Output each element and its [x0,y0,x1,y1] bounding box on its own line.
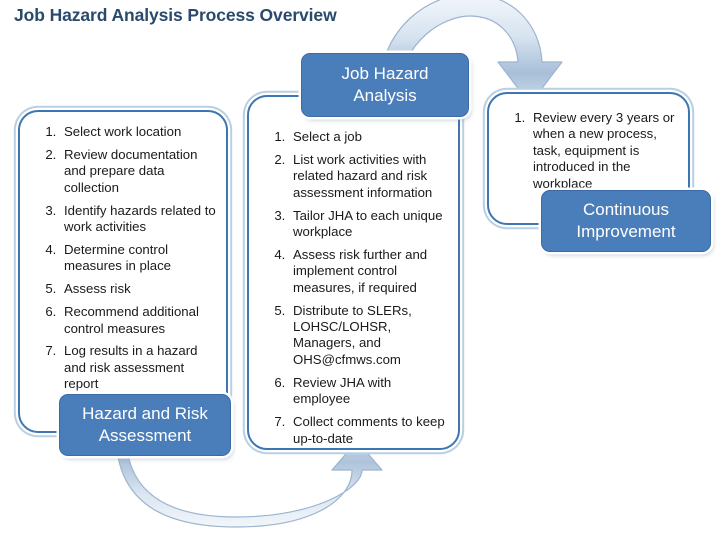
list-item: Log results in a hazard and risk assessm… [60,343,216,392]
step-list-continuous-improvement: Review every 3 years or when a new proce… [503,110,678,192]
list-item: Determine control measures in place [60,242,216,275]
badge-continuous-improvement[interactable]: Continuous Improvement [541,190,711,252]
list-item: Select a job [289,129,448,145]
badge-line-2: Assessment [82,425,208,447]
page-title: Job Hazard Analysis Process Overview [14,5,337,26]
list-item: Identify hazards related to work activit… [60,203,216,236]
list-item: Review JHA with employee [289,375,448,408]
list-item: Collect comments to keep up-to-date [289,414,448,447]
list-item: Recommend additional control measures [60,304,216,337]
badge-line-1: Continuous [576,199,675,221]
list-item: Review documentation and prepare data co… [60,147,216,196]
list-item: Assess risk [60,281,216,297]
step-list-hazard-and-risk-assessment: Select work location Review documentatio… [34,124,216,393]
badge-line-1: Hazard and Risk [82,403,208,425]
step-list-job-hazard-analysis: Select a job List work activities with r… [263,129,448,447]
badge-line-2: Improvement [576,221,675,243]
list-item: Select work location [60,124,216,140]
list-item: Assess risk further and implement contro… [289,247,448,296]
panel-body: Select a job List work activities with r… [249,97,458,448]
panel-job-hazard-analysis: Select a job List work activities with r… [247,95,460,450]
badge-job-hazard-analysis[interactable]: Job Hazard Analysis [301,53,469,117]
list-item: Review every 3 years or when a new proce… [529,110,678,192]
panel-hazard-and-risk-assessment: Select work location Review documentatio… [18,110,228,433]
badge-line-1: Job Hazard [342,63,429,85]
list-item: Distribute to SLERs, LOHSC/LOHSR, Manage… [289,303,448,369]
list-item: List work activities with related hazard… [289,152,448,201]
list-item: Tailor JHA to each unique workplace [289,208,448,241]
panel-body: Select work location Review documentatio… [20,112,226,431]
badge-line-2: Analysis [342,85,429,107]
badge-hazard-and-risk-assessment[interactable]: Hazard and Risk Assessment [59,394,231,456]
diagram-canvas: Job Hazard Analysis Process Overview [0,0,724,541]
